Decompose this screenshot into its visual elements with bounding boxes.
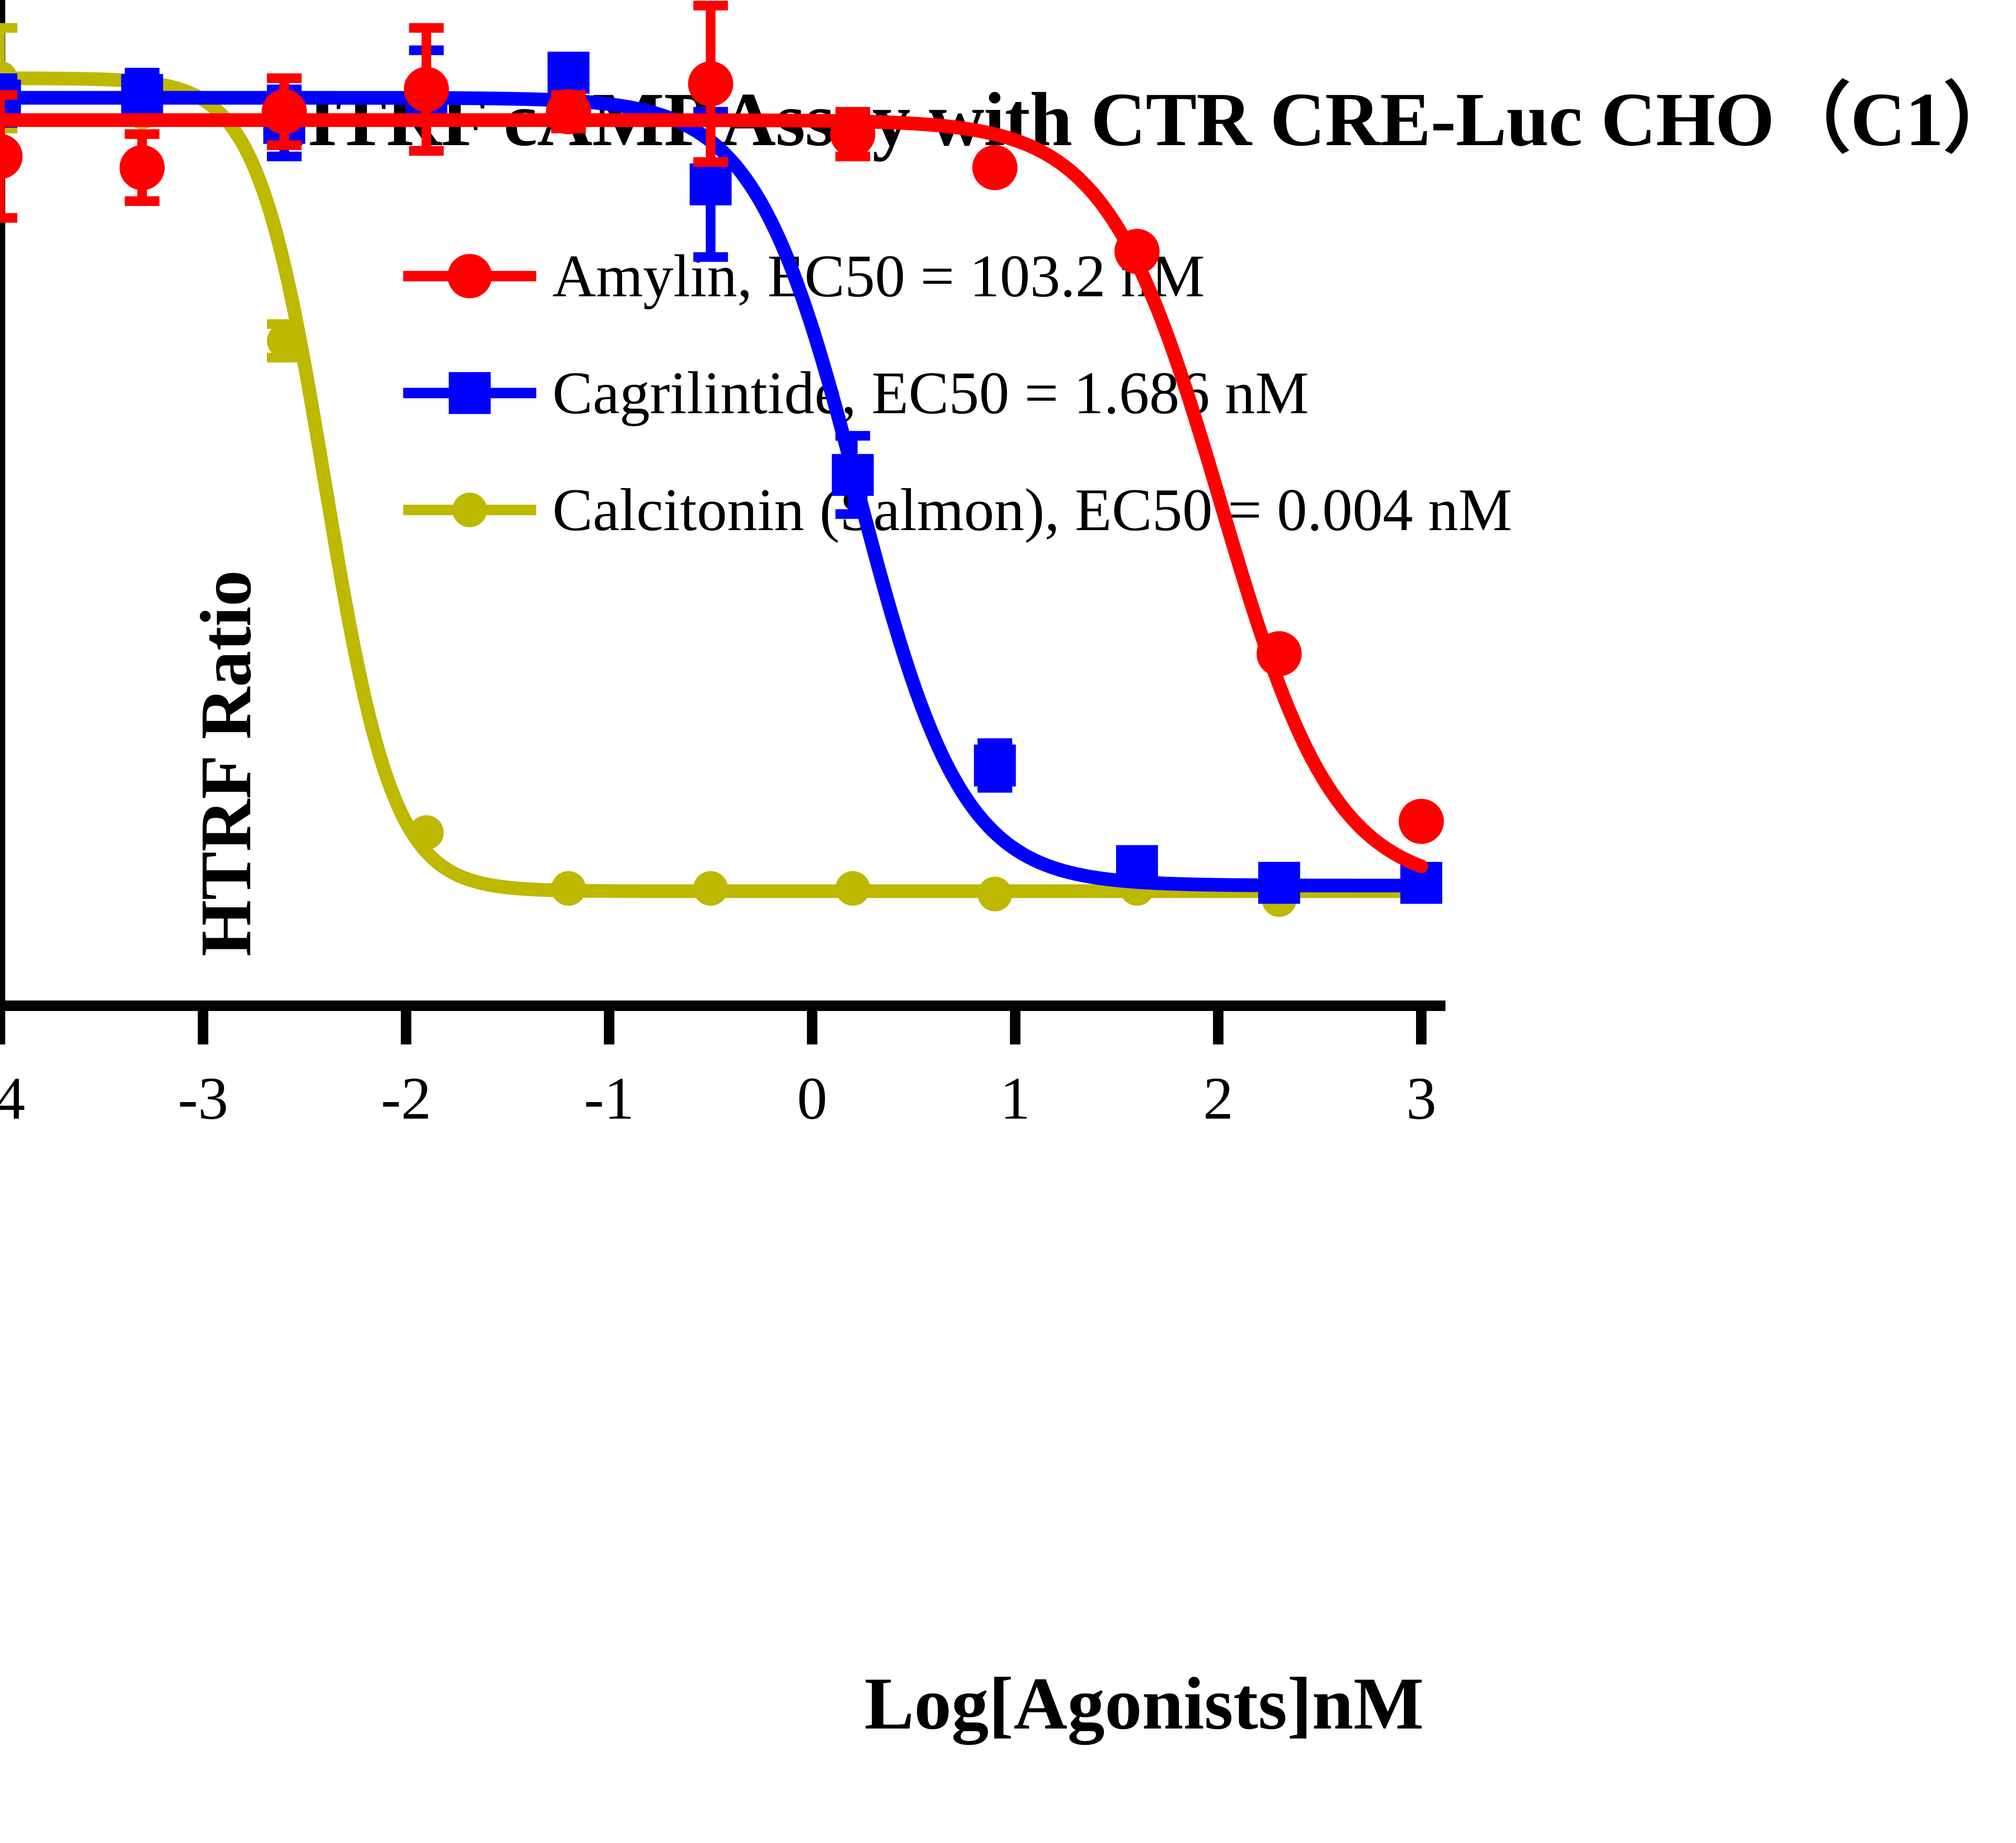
x-tick-label-4: 0 bbox=[797, 1065, 827, 1132]
data-point bbox=[404, 67, 449, 112]
data-point bbox=[694, 871, 728, 906]
series-amylin bbox=[0, 6, 1444, 866]
data-point bbox=[1399, 799, 1444, 844]
data-point bbox=[1116, 845, 1158, 887]
x-axis-label: Log[Agonists]nM bbox=[433, 1661, 1855, 1747]
series-cagrilintide bbox=[0, 50, 1442, 904]
data-point bbox=[1258, 862, 1300, 904]
data-point bbox=[121, 74, 163, 116]
x-tick-label-2: -2 bbox=[381, 1065, 431, 1132]
figure-root: HTRF cAMP Assay with CTR CRE-Luc CHO（C1）… bbox=[0, 0, 2016, 1843]
data-point bbox=[974, 745, 1016, 786]
data-point bbox=[546, 89, 591, 134]
x-tick-label-6: 2 bbox=[1203, 1065, 1233, 1132]
data-point bbox=[830, 112, 875, 157]
data-point bbox=[409, 815, 444, 850]
x-tick-label-1: -3 bbox=[178, 1065, 228, 1132]
x-tick-label-0: -4 bbox=[0, 1065, 25, 1132]
data-point bbox=[262, 89, 307, 134]
x-tick-label-5: 1 bbox=[1000, 1065, 1030, 1132]
data-point bbox=[835, 871, 870, 906]
data-point bbox=[690, 163, 732, 205]
data-point bbox=[1114, 229, 1160, 274]
data-point bbox=[1257, 631, 1302, 676]
data-point bbox=[267, 324, 302, 358]
data-point bbox=[120, 145, 165, 190]
x-tick-label-7: 3 bbox=[1406, 1065, 1437, 1132]
data-point bbox=[0, 134, 23, 179]
data-point bbox=[832, 454, 874, 496]
data-point bbox=[688, 61, 733, 106]
data-point bbox=[548, 52, 589, 94]
data-point bbox=[551, 871, 586, 906]
data-point bbox=[978, 877, 1012, 911]
chart-plot-area: 1.81.20.60.0-4-3-2-10123 bbox=[0, 0, 1589, 1145]
data-point bbox=[973, 145, 1018, 190]
x-tick-label-3: -1 bbox=[584, 1065, 634, 1132]
